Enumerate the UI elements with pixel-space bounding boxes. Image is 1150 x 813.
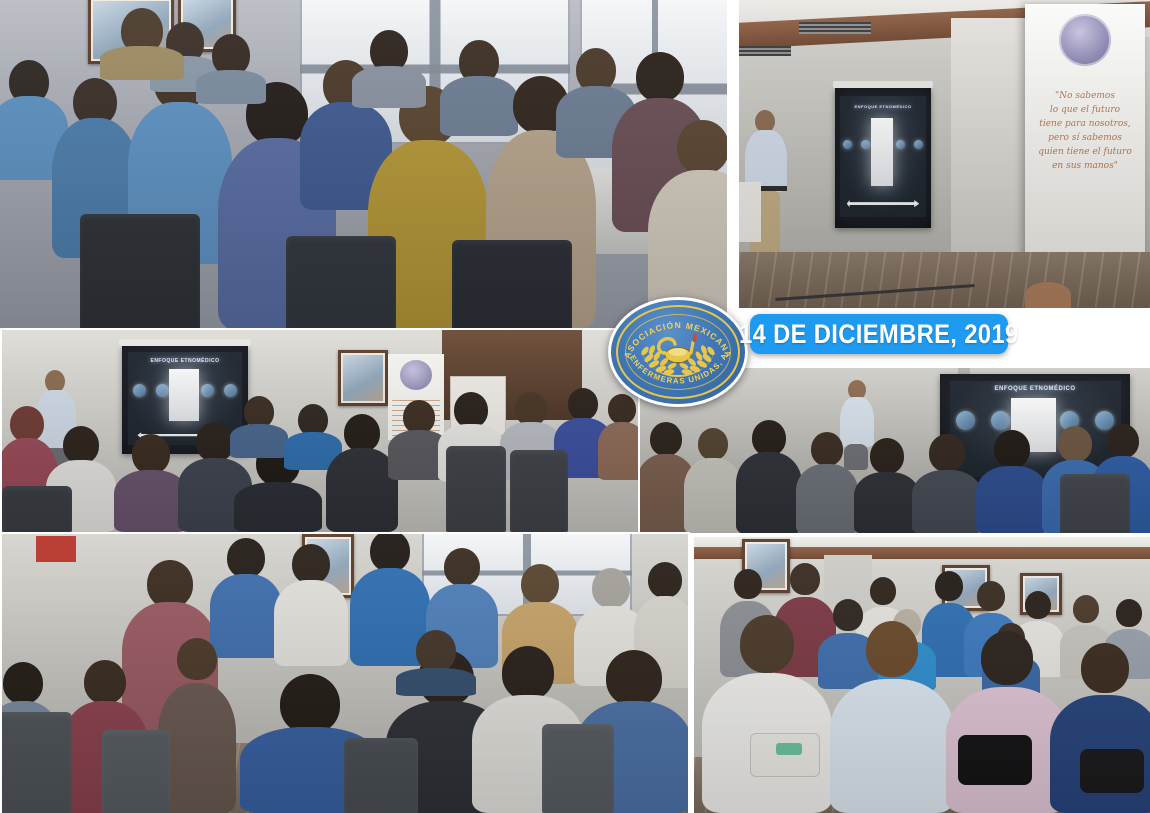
- photo-top-right: ENFOQUE ETNOMÉDICO: [739, 0, 1150, 308]
- photo-bottom-right: [694, 537, 1150, 813]
- association-logo: ASOCIACIÓN MEXICANA DE ENFERMERAS UNIDAS…: [608, 297, 748, 407]
- photo-collage: ENFOQUE ETNOMÉDICO: [0, 0, 1150, 813]
- photo-bottom-left: [2, 534, 688, 813]
- laurel-wreath-icon: [626, 337, 730, 381]
- event-date-text: 14 DE DICIEMBRE, 2019: [739, 319, 1018, 350]
- event-date-badge: 14 DE DICIEMBRE, 2019: [750, 314, 1008, 354]
- photo-top-left: [0, 0, 727, 330]
- photo-middle-left: ENFOQUE ETNOMÉDICO: [2, 330, 638, 532]
